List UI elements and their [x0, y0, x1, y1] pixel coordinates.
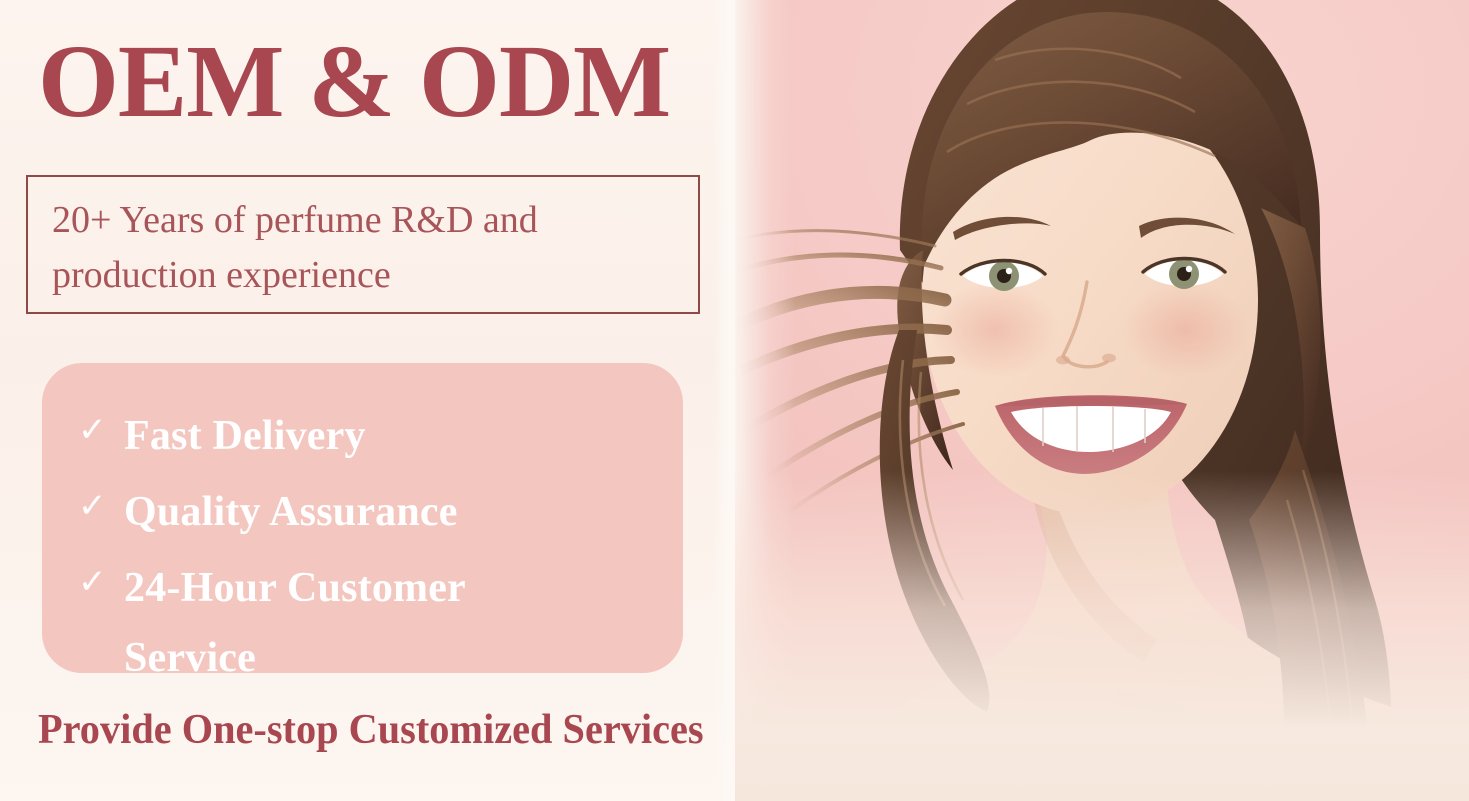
- feature-card: ✓ Fast Delivery ✓ Quality Assurance ✓ 24…: [42, 363, 683, 673]
- subtitle-text: 20+ Years of perfume R&D and production …: [52, 193, 676, 303]
- list-item: ✓ Fast Delivery: [42, 401, 683, 471]
- check-icon: ✓: [78, 477, 124, 535]
- subtitle-box: 20+ Years of perfume R&D and production …: [26, 175, 700, 314]
- check-icon: ✓: [78, 401, 124, 459]
- feature-label: Fast Delivery: [124, 401, 366, 471]
- list-item: ✓ Quality Assurance: [42, 477, 683, 547]
- list-item: ✓ 24-Hour Customer Service: [42, 553, 683, 693]
- image-bottom-fade: [735, 471, 1469, 801]
- feature-label: 24-Hour Customer Service: [124, 553, 594, 693]
- feature-label: Quality Assurance: [124, 477, 458, 547]
- cheek-right: [1121, 282, 1249, 378]
- check-icon: ✓: [78, 553, 124, 611]
- right-image-panel: [735, 0, 1469, 801]
- feature-list: ✓ Fast Delivery ✓ Quality Assurance ✓ 24…: [42, 401, 683, 693]
- page-title: OEM & ODM: [38, 30, 670, 134]
- tagline: Provide One-stop Customized Services: [38, 706, 704, 754]
- promo-banner: OEM & ODM 20+ Years of perfume R&D and p…: [0, 0, 1469, 801]
